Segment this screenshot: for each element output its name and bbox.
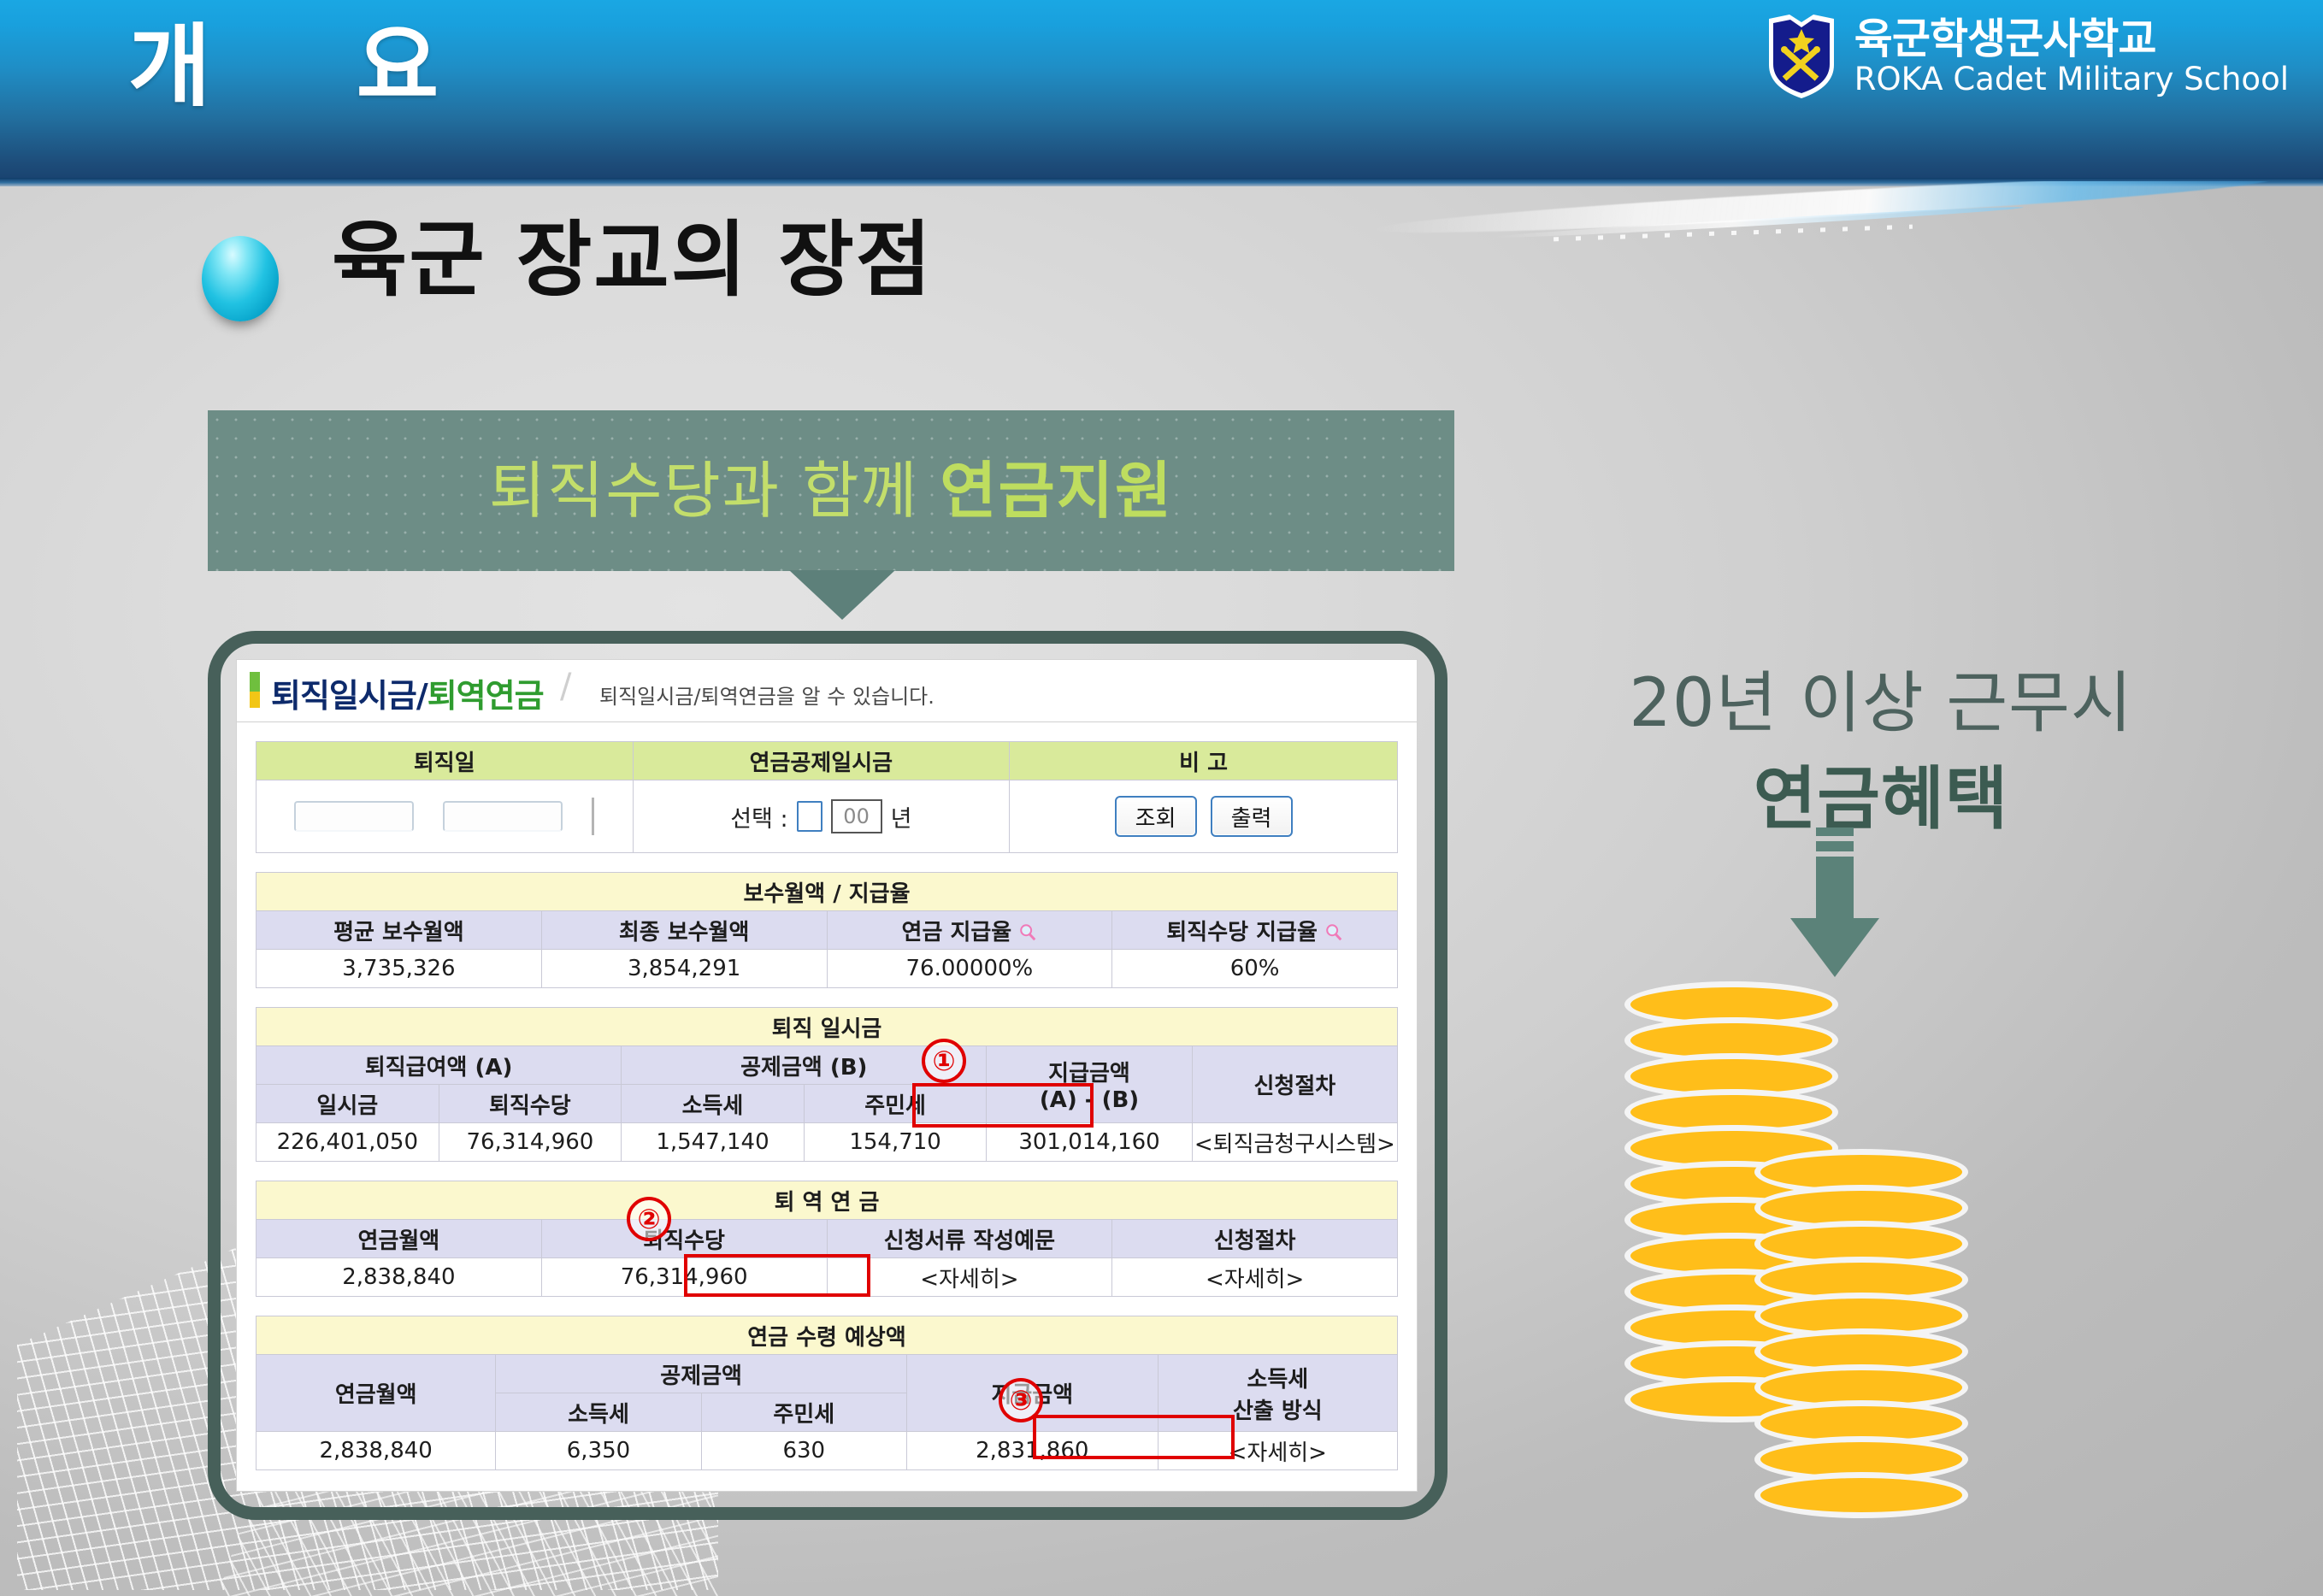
value-resident-tax: 154,710 bbox=[804, 1123, 987, 1162]
banner-text-bold: 연금지원 bbox=[940, 455, 1173, 527]
year-input[interactable]: 00 bbox=[831, 799, 882, 833]
table-header-row: 평균 보수월액 최종 보수월액 연금 지급율 퇴직수당 지급율 bbox=[256, 911, 1398, 950]
link-application-sample[interactable]: <자세히> bbox=[827, 1258, 1112, 1297]
screenshot-subtitle: 퇴직일시금/퇴역연금을 알 수 있습니다. bbox=[599, 680, 935, 710]
table-retirement-date: 퇴직일 연금공제일시금 비 고 선택 : bbox=[256, 741, 1398, 853]
col-final-salary: 최종 보수월액 bbox=[541, 911, 827, 950]
cell-deduction-select[interactable]: 선택 : 00 년 bbox=[633, 780, 1010, 853]
pension-benefit-line1: 20년 이상 근무시 bbox=[1505, 650, 2257, 745]
slide-heading: 육군 장교의 장점 bbox=[332, 219, 933, 301]
col-monthly-pension: 연금월액 bbox=[256, 1220, 542, 1258]
col-income-tax: 소득세 bbox=[496, 1393, 701, 1432]
value-severance-highlighted: 76,314,960 bbox=[541, 1258, 827, 1297]
table-header-row: 연금월액 공제금액 지급금액 소득세 산출 방식 bbox=[256, 1355, 1398, 1393]
accent-bar-icon bbox=[250, 672, 260, 708]
section-lump-sum: 퇴직 일시금 퇴직급여액 (A) 공제금액 (B) 지급금액 (A) - (B)… bbox=[256, 1007, 1398, 1162]
value-avg-salary: 3,735,326 bbox=[256, 950, 542, 988]
section-title-salary-rate: 보수월액 / 지급율 bbox=[256, 873, 1398, 911]
page-title: 개요 bbox=[128, 22, 439, 112]
shield-crest-icon bbox=[1764, 12, 1839, 101]
table-row: 2,838,840 6,350 630 2,831,860 <자세히> bbox=[256, 1432, 1398, 1470]
value-lump: 226,401,050 bbox=[256, 1123, 439, 1162]
table-lump-sum: 퇴직 일시금 퇴직급여액 (A) 공제금액 (B) 지급금액 (A) - (B)… bbox=[256, 1007, 1398, 1162]
col-tax-method: 소득세 산출 방식 bbox=[1158, 1355, 1397, 1432]
col-income-tax: 소득세 bbox=[622, 1085, 805, 1123]
link-claim-system[interactable]: <퇴직금청구시스템> bbox=[1192, 1123, 1397, 1162]
page-title-right: 요 bbox=[357, 15, 439, 119]
logo-korean-name: 육군학생군사학교 bbox=[1854, 18, 2289, 60]
highlight-banner: 퇴직수당과 함께 연금지원 bbox=[208, 410, 1454, 571]
section-expected-pension: 연금 수령 예상액 연금월액 공제금액 지급금액 소득세 산출 방식 소득세 주… bbox=[256, 1316, 1398, 1470]
title-lump-sum: 퇴직일시금 bbox=[271, 677, 416, 715]
col-monthly-pension: 연금월액 bbox=[256, 1355, 496, 1432]
cell-date-inputs[interactable] bbox=[256, 780, 634, 853]
pension-calculator-screenshot: 퇴직일시금/퇴역연금 / 퇴직일시금/퇴역연금을 알 수 있습니다. 퇴직일 연… bbox=[237, 660, 1417, 1491]
col-payout-amount: 지급금액 (A) - (B) bbox=[987, 1046, 1192, 1123]
title-pension: 퇴역연금 bbox=[427, 677, 544, 715]
annotation-marker-2: ② bbox=[627, 1197, 671, 1241]
sphere-bullet-icon bbox=[202, 236, 279, 321]
col-pension-deduction: 연금공제일시금 bbox=[633, 742, 1010, 780]
value-payout-highlighted: 301,014,160 bbox=[987, 1123, 1192, 1162]
col-resident-tax: 주민세 bbox=[701, 1393, 906, 1432]
table-row: 2,838,840 76,314,960 <자세히> <자세히> bbox=[256, 1258, 1398, 1297]
magnifier-icon[interactable] bbox=[1324, 923, 1343, 942]
table-row: 3,735,326 3,854,291 76.00000% 60% bbox=[256, 950, 1398, 988]
section-title-expected-pension: 연금 수령 예상액 bbox=[256, 1316, 1398, 1355]
table-salary-rate: 보수월액 / 지급율 평균 보수월액 최종 보수월액 연금 지급율 퇴직수당 지… bbox=[256, 872, 1398, 988]
magnifier-icon[interactable] bbox=[1018, 923, 1037, 942]
col-group-deduction: 공제금액 bbox=[496, 1355, 907, 1393]
deduction-checkbox[interactable] bbox=[797, 801, 822, 832]
col-lump: 일시금 bbox=[256, 1085, 439, 1123]
col-pension-rate: 연금 지급율 bbox=[827, 911, 1112, 950]
table-row: 226,401,050 76,314,960 1,547,140 154,710… bbox=[256, 1123, 1398, 1162]
value-monthly-pension: 2,838,840 bbox=[256, 1258, 542, 1297]
table-row: 선택 : 00 년 조회 출력 bbox=[256, 780, 1398, 853]
slide-root: 개요 육군학생군사학교 ROKA Cadet Military School 육… bbox=[0, 0, 2323, 1596]
title-separator: / bbox=[416, 677, 427, 715]
value-severance: 76,314,960 bbox=[439, 1123, 622, 1162]
table-header-row: 퇴직일 연금공제일시금 비 고 bbox=[256, 742, 1398, 780]
banner-text: 퇴직수당과 함께 연금지원 bbox=[208, 460, 1454, 521]
school-logo: 육군학생군사학교 ROKA Cadet Military School bbox=[1764, 12, 2289, 101]
col-application-procedure: 신청절차 bbox=[1112, 1220, 1398, 1258]
print-button[interactable]: 출력 bbox=[1211, 796, 1293, 837]
table-pension: 퇴 역 연 금 연금월액 퇴직수당 신청서류 작성예문 신청절차 2,838,8… bbox=[256, 1181, 1398, 1297]
cursor-caret-icon bbox=[592, 798, 594, 835]
col-retirement-date: 퇴직일 bbox=[256, 742, 634, 780]
cell-action-buttons[interactable]: 조회 출력 bbox=[1010, 780, 1398, 853]
col-severance: 퇴직수당 bbox=[439, 1085, 622, 1123]
table-header-row: 퇴직급여액 (A) 공제금액 (B) 지급금액 (A) - (B) 신청절차 bbox=[256, 1046, 1398, 1085]
logo-english-name: ROKA Cadet Military School bbox=[1854, 63, 2289, 95]
value-monthly-pension: 2,838,840 bbox=[256, 1432, 496, 1470]
value-income-tax: 6,350 bbox=[496, 1432, 701, 1470]
col-avg-salary: 평균 보수월액 bbox=[256, 911, 542, 950]
value-final-salary: 3,854,291 bbox=[541, 950, 827, 988]
value-income-tax: 1,547,140 bbox=[622, 1123, 805, 1162]
coin-stack-icon bbox=[1624, 981, 1992, 1546]
value-payout-highlighted: 2,831,860 bbox=[906, 1432, 1158, 1470]
annotation-marker-1: ① bbox=[922, 1039, 966, 1083]
section-title-pension: 퇴 역 연 금 bbox=[256, 1181, 1398, 1220]
table-expected-pension: 연금 수령 예상액 연금월액 공제금액 지급금액 소득세 산출 방식 소득세 주… bbox=[256, 1316, 1398, 1470]
col-severance-rate: 퇴직수당 지급율 bbox=[1112, 911, 1398, 950]
header-underline bbox=[0, 178, 2323, 186]
link-tax-method[interactable]: <자세히> bbox=[1158, 1432, 1397, 1470]
value-resident-tax: 630 bbox=[701, 1432, 906, 1470]
select-label: 선택 : bbox=[730, 800, 787, 833]
col-remarks: 비 고 bbox=[1010, 742, 1398, 780]
section-salary-rate: 보수월액 / 지급율 평균 보수월액 최종 보수월액 연금 지급율 퇴직수당 지… bbox=[256, 872, 1398, 988]
screenshot-header: 퇴직일시금/퇴역연금 / 퇴직일시금/퇴역연금을 알 수 있습니다. bbox=[237, 660, 1417, 722]
col-severance-pay: 퇴직수당 bbox=[541, 1220, 827, 1258]
date-input-month[interactable] bbox=[443, 801, 563, 832]
col-application-sample: 신청서류 작성예문 bbox=[827, 1220, 1112, 1258]
section-pension: 퇴 역 연 금 연금월액 퇴직수당 신청서류 작성예문 신청절차 2,838,8… bbox=[256, 1181, 1398, 1297]
table-header-row: 연금월액 퇴직수당 신청서류 작성예문 신청절차 bbox=[256, 1220, 1398, 1258]
screenshot-title: 퇴직일시금/퇴역연금 bbox=[271, 669, 544, 716]
annotation-marker-3: ③ bbox=[999, 1378, 1043, 1422]
date-input-year[interactable] bbox=[294, 801, 414, 832]
value-severance-rate: 60% bbox=[1112, 950, 1398, 988]
down-triangle-icon bbox=[789, 570, 895, 620]
col-group-benefit-a: 퇴직급여액 (A) bbox=[256, 1046, 622, 1085]
search-button[interactable]: 조회 bbox=[1115, 796, 1197, 837]
value-pension-rate: 76.00000% bbox=[827, 950, 1112, 988]
page-title-left: 개 bbox=[128, 15, 211, 119]
down-arrow-icon bbox=[1784, 827, 1886, 981]
year-unit-label: 년 bbox=[891, 800, 912, 833]
link-application-procedure[interactable]: <자세히> bbox=[1112, 1258, 1398, 1297]
banner-text-normal: 퇴직수당과 함께 bbox=[489, 455, 940, 527]
section-title-lump-sum: 퇴직 일시금 bbox=[256, 1008, 1398, 1046]
col-resident-tax: 주민세 bbox=[804, 1085, 987, 1123]
header-divider: / bbox=[560, 667, 571, 706]
decorative-swoosh bbox=[1340, 181, 2323, 284]
col-application-procedure: 신청절차 bbox=[1192, 1046, 1397, 1123]
section-retirement-date: 퇴직일 연금공제일시금 비 고 선택 : bbox=[256, 741, 1398, 853]
